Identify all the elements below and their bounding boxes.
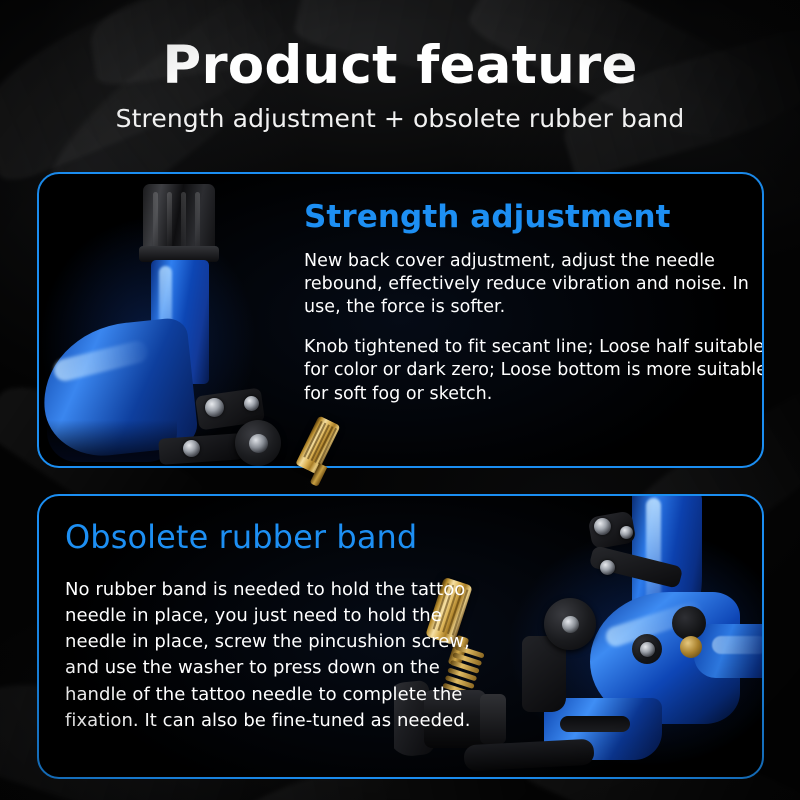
product-feature-infographic: Product feature Strength adjustment + ob… — [0, 0, 800, 800]
silver-screw — [620, 526, 633, 539]
feature-paragraph: New back cover adjustment, adjust the ne… — [304, 250, 764, 319]
silver-screw — [640, 642, 655, 657]
page-title: Product feature — [0, 38, 800, 93]
product-image-strength-adjustment — [39, 174, 319, 466]
page-subtitle: Strength adjustment + obsolete rubber ba… — [0, 104, 800, 133]
feature-paragraph: No rubber band is needed to hold the tat… — [65, 577, 505, 734]
brass-eyelet — [680, 636, 702, 658]
silver-screw — [205, 398, 224, 417]
feature-card-obsolete-rubber-band: Obsolete rubber band No rubber band is n… — [37, 494, 764, 779]
feature-card-strength-adjustment: Strength adjustment New back cover adjus… — [37, 172, 764, 468]
silver-screw — [600, 560, 615, 575]
feature-paragraph: Knob tightened to fit secant line; Loose… — [304, 336, 764, 405]
header: Product feature Strength adjustment + ob… — [0, 0, 800, 133]
feature-heading: Strength adjustment — [304, 200, 764, 234]
silver-screw — [183, 440, 200, 457]
card-text-obsolete-rubber-band: Obsolete rubber band No rubber band is n… — [65, 520, 505, 734]
silver-screw — [244, 396, 259, 411]
silver-screw — [594, 518, 611, 535]
feature-heading: Obsolete rubber band — [65, 520, 505, 555]
card-text-strength-adjustment: Strength adjustment New back cover adjus… — [304, 200, 764, 406]
